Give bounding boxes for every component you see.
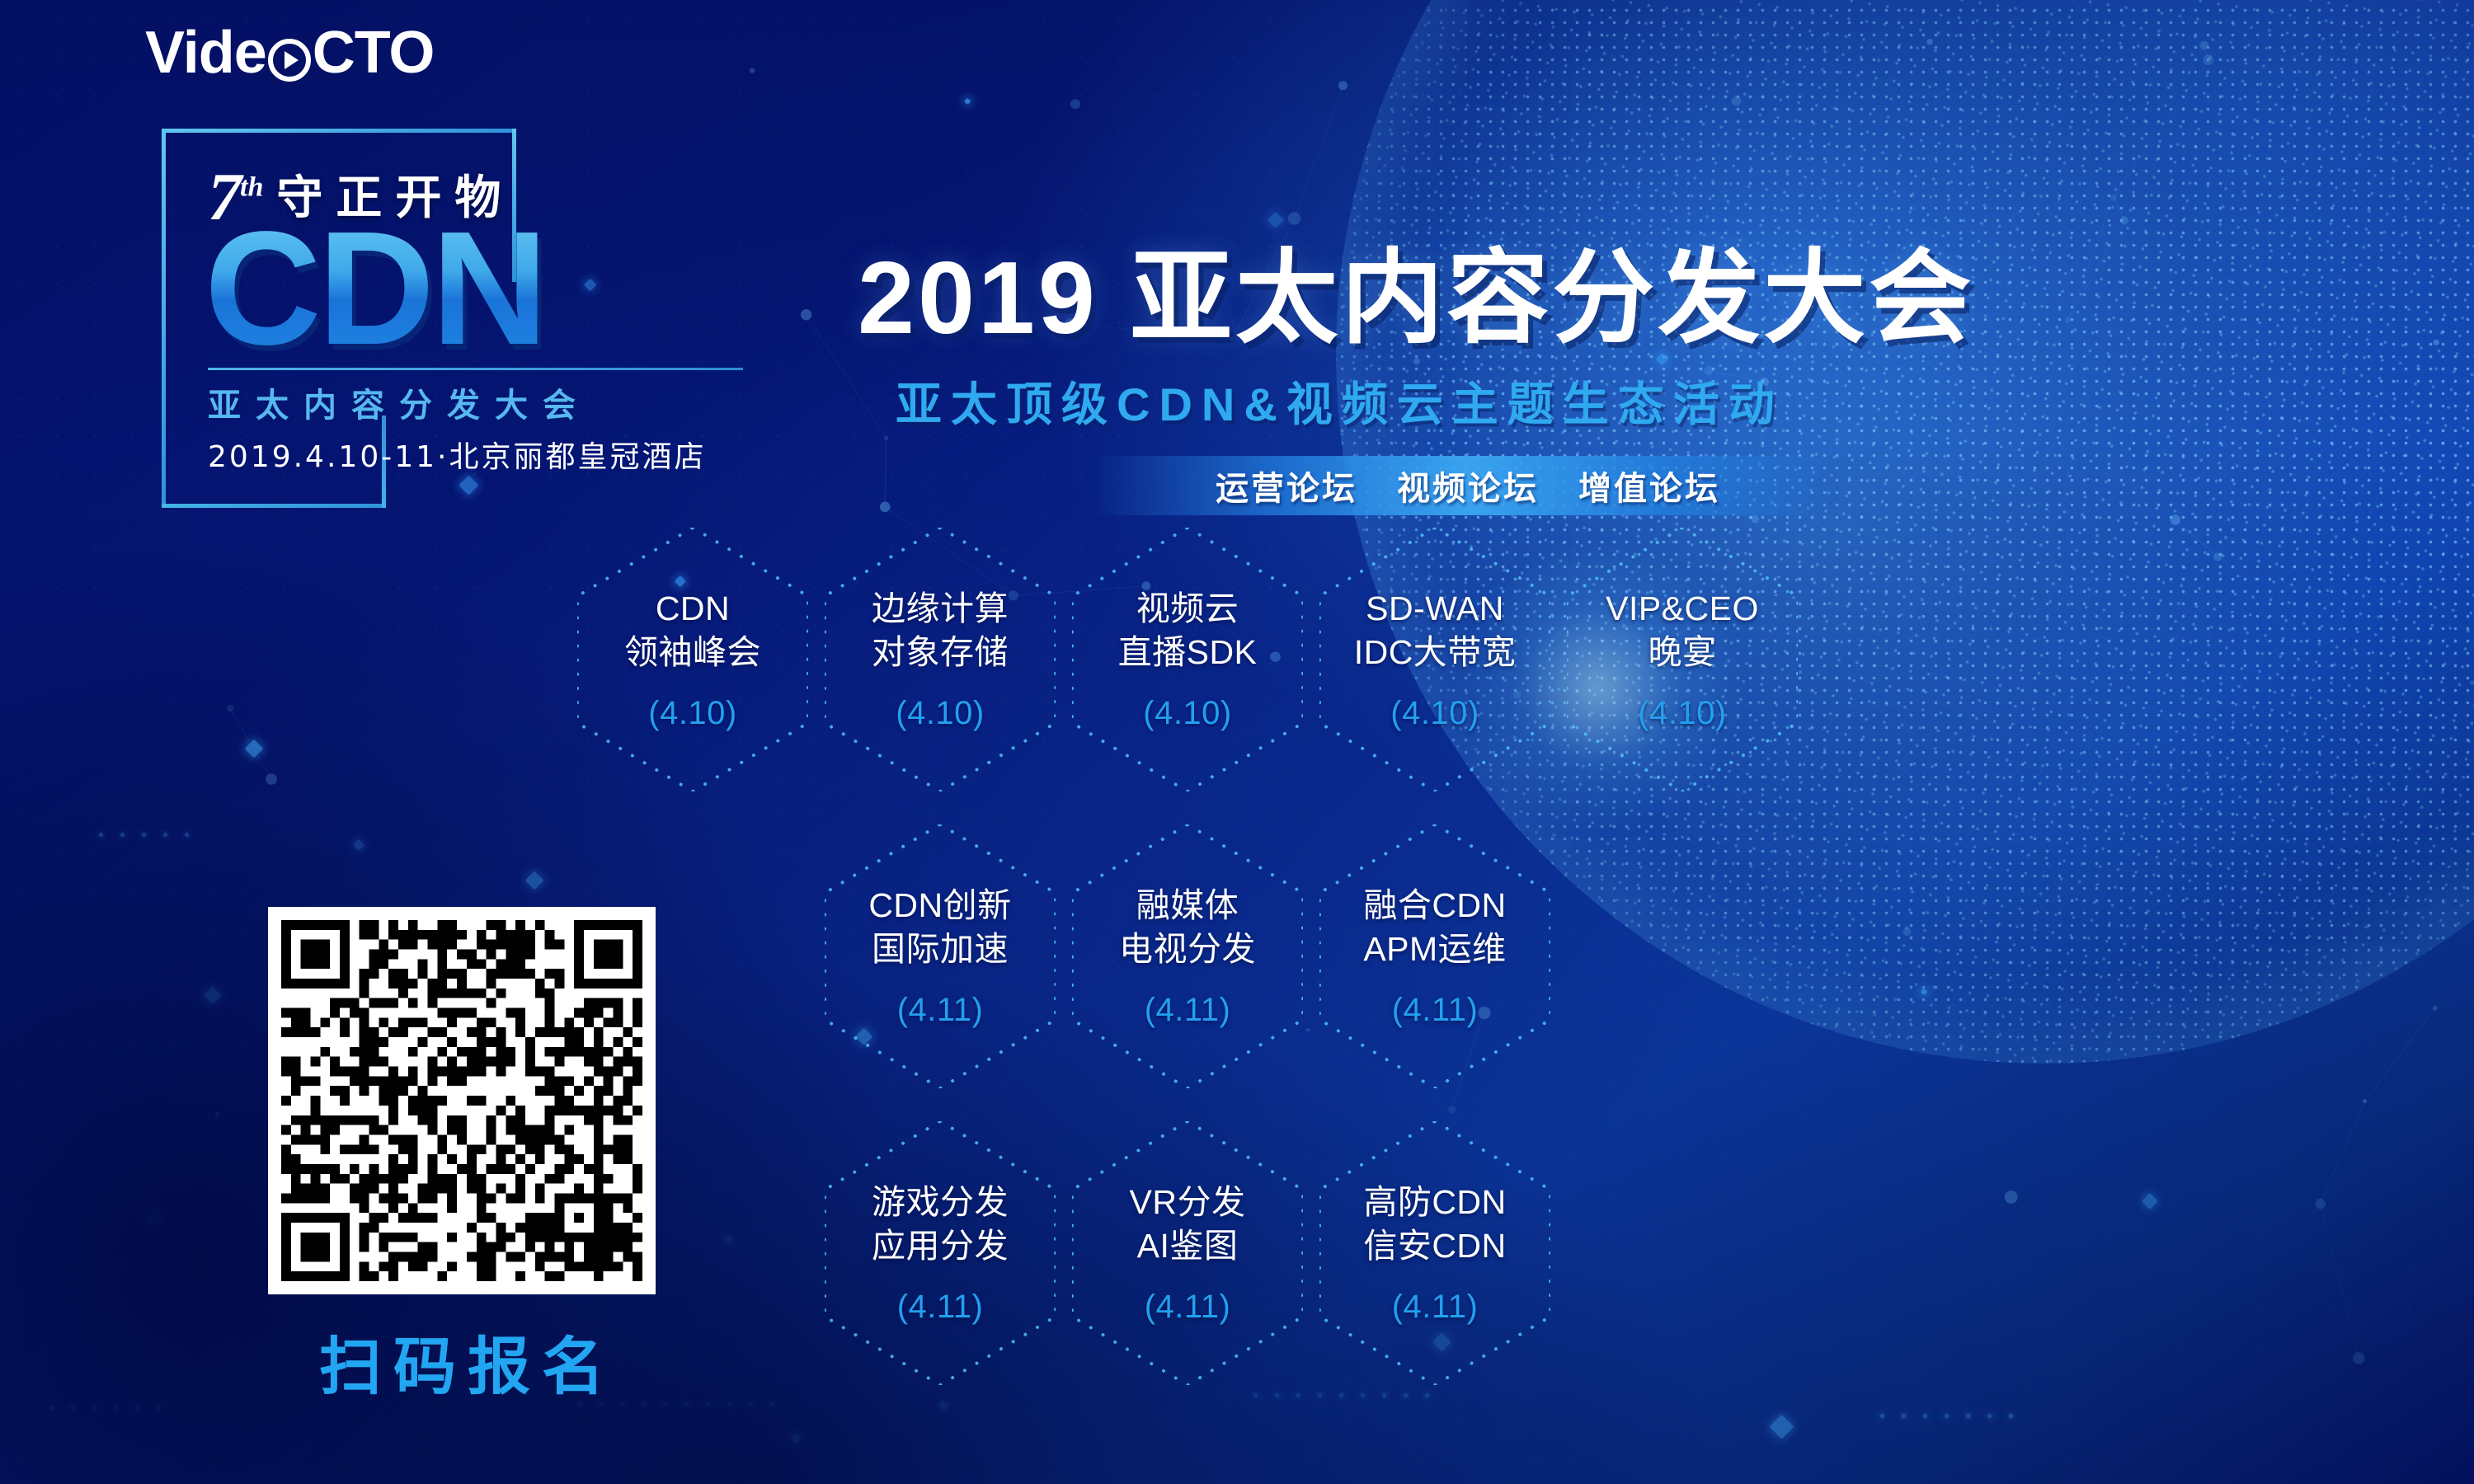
hex-item-label: VR分发AI鉴图 [1130, 1181, 1246, 1267]
hex-item-label: 融合CDNAPM运维 [1363, 884, 1506, 970]
agenda-hex-item[interactable]: 高防CDN信安CDN(4.11) [1319, 1121, 1550, 1385]
poster-canvas: Vide CTO 7th 守正开物 CDN 亚太内容分发大会 2019.4.10… [0, 0, 2474, 1484]
hex-item-line1: 边缘计算 [872, 587, 1009, 630]
agenda-hex-item[interactable]: 融合CDNAPM运维(4.11) [1319, 824, 1550, 1088]
hex-item-line2: 领袖峰会 [624, 631, 761, 674]
hex-item-line2: 信安CDN [1363, 1224, 1506, 1267]
hex-item-line1: 融合CDN [1363, 884, 1506, 927]
hex-item-label: 视频云直播SDK [1118, 587, 1258, 674]
hex-item-date: (4.11) [897, 992, 984, 1029]
hex-item-label: 游戏分发应用分发 [872, 1181, 1009, 1267]
hex-item-label: VIP&CEO晚宴 [1606, 587, 1759, 674]
hex-item-line1: CDN创新 [868, 884, 1011, 927]
hex-item-label: SD-WANIDC大带宽 [1354, 587, 1517, 674]
hex-item-line1: 高防CDN [1363, 1181, 1506, 1223]
hex-item-date: (4.11) [897, 1289, 984, 1326]
agenda-hex-item[interactable]: VIP&CEO晚宴(4.10) [1567, 528, 1798, 791]
hex-item-date: (4.11) [1392, 1289, 1479, 1326]
hex-item-line1: CDN [624, 587, 761, 630]
hex-item-line1: VR分发 [1130, 1181, 1246, 1223]
hex-item-date: (4.10) [1638, 695, 1727, 732]
hex-item-line2: IDC大带宽 [1354, 631, 1517, 674]
hex-item-line2: 直播SDK [1118, 631, 1258, 674]
hex-item-date: (4.10) [648, 695, 737, 732]
hex-item-line1: VIP&CEO [1606, 587, 1759, 630]
hex-item-date: (4.10) [896, 695, 985, 732]
hex-item-line1: 融媒体 [1119, 884, 1256, 927]
qr-code[interactable] [268, 907, 656, 1294]
agenda-hex-item[interactable]: VR分发AI鉴图(4.11) [1072, 1121, 1303, 1385]
hex-item-date: (4.11) [1392, 992, 1479, 1029]
hex-item-date: (4.10) [1390, 695, 1479, 732]
agenda-hex-item[interactable]: 边缘计算对象存储(4.10) [825, 528, 1056, 791]
hex-item-label: CDN创新国际加速 [868, 884, 1011, 970]
hex-item-line1: 游戏分发 [872, 1181, 1009, 1223]
agenda-hex-item[interactable]: 游戏分发应用分发(4.11) [825, 1121, 1056, 1385]
hex-item-line2: 电视分发 [1119, 927, 1256, 970]
hex-item-line1: SD-WAN [1354, 587, 1517, 630]
hex-item-line2: 晚宴 [1606, 631, 1759, 674]
register-cta-label: 扫码报名 [268, 1316, 656, 1407]
hex-item-date: (4.11) [1145, 1289, 1231, 1326]
hex-item-line2: AI鉴图 [1130, 1224, 1246, 1267]
agenda-hex-item[interactable]: 融媒体电视分发(4.11) [1072, 824, 1303, 1088]
hex-item-line2: 对象存储 [872, 631, 1009, 674]
hex-item-line2: APM运维 [1363, 927, 1506, 970]
agenda-hex-item[interactable]: 视频云直播SDK(4.10) [1072, 528, 1303, 791]
hex-item-label: 高防CDN信安CDN [1363, 1181, 1506, 1267]
agenda-hex-item[interactable]: CDN创新国际加速(4.11) [825, 824, 1056, 1088]
hex-item-date: (4.11) [1145, 992, 1231, 1029]
hex-item-line2: 应用分发 [872, 1224, 1009, 1267]
hex-item-label: 边缘计算对象存储 [872, 587, 1009, 674]
hex-item-label: 融媒体电视分发 [1119, 884, 1256, 970]
hex-item-line1: 视频云 [1118, 587, 1258, 630]
registration-block: 扫码报名 [268, 907, 656, 1407]
hex-item-line2: 国际加速 [868, 927, 1011, 970]
hex-item-date: (4.10) [1143, 695, 1232, 732]
hex-item-label: CDN领袖峰会 [624, 587, 761, 674]
agenda-hex-item[interactable]: SD-WANIDC大带宽(4.10) [1319, 528, 1550, 791]
agenda-hex-item[interactable]: CDN领袖峰会(4.10) [577, 528, 808, 791]
